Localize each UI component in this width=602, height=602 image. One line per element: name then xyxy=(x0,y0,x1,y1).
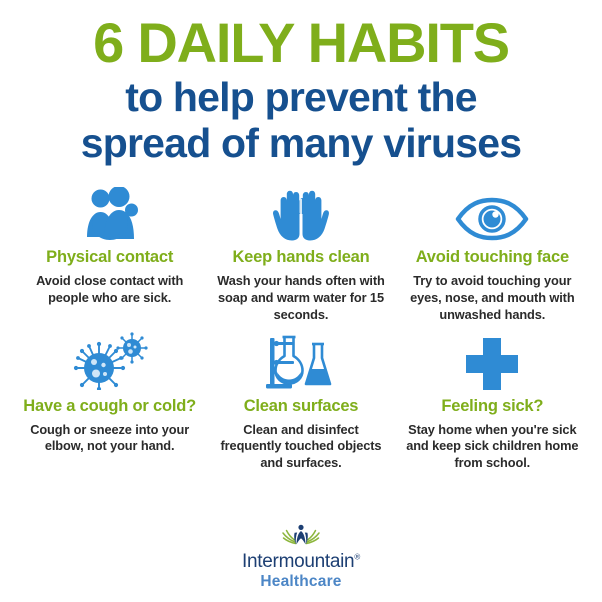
habit-card-clean-surfaces: Clean surfaces Clean and disinfect frequ… xyxy=(205,332,396,473)
infographic-poster: 6 DAILY HABITS to help prevent the sprea… xyxy=(0,0,602,602)
habit-heading: Avoid touching face xyxy=(405,248,580,267)
two-hands-icon xyxy=(213,183,388,241)
habit-heading: Clean surfaces xyxy=(213,397,388,416)
two-people-embracing-icon xyxy=(22,183,197,241)
habit-heading: Have a cough or cold? xyxy=(22,397,197,416)
habit-card-avoid-touching-face: Avoid touching face Try to avoid touchin… xyxy=(397,183,588,324)
intermountain-logo-mark-icon xyxy=(281,524,321,551)
habit-body: Stay home when you're sick and keep sick… xyxy=(405,422,580,473)
page-subtitle: to help prevent the spread of many virus… xyxy=(0,75,602,167)
habit-card-cough-or-cold: Have a cough or cold? Cough or sneeze in… xyxy=(14,332,205,473)
habit-body: Try to avoid touching your eyes, nose, a… xyxy=(405,273,580,324)
habit-card-physical-contact: Physical contact Avoid close contact wit… xyxy=(14,183,205,324)
logo-name: Intermountain xyxy=(242,551,354,572)
page-subtitle-line-1: to help prevent the xyxy=(125,74,477,120)
habit-heading: Feeling sick? xyxy=(405,397,580,416)
habit-card-feeling-sick: Feeling sick? Stay home when you're sick… xyxy=(397,332,588,473)
habit-body: Avoid close contact with people who are … xyxy=(22,273,197,307)
habit-heading: Keep hands clean xyxy=(213,248,388,267)
habit-body: Wash your hands often with soap and warm… xyxy=(213,273,388,324)
lab-flasks-icon xyxy=(213,332,388,390)
footer-logo-block: Intermountain® Healthcare xyxy=(0,524,602,590)
habit-grid: Physical contact Avoid close contact wit… xyxy=(0,167,602,472)
headline-block: 6 DAILY HABITS to help prevent the sprea… xyxy=(0,0,602,167)
logo-wordmark: Intermountain® xyxy=(242,552,360,572)
habit-card-keep-hands-clean: Keep hands clean Wash your hands often w… xyxy=(205,183,396,324)
logo-tagline: Healthcare xyxy=(260,573,341,590)
habit-heading: Physical contact xyxy=(22,248,197,267)
virus-germs-icon xyxy=(22,332,197,390)
habit-body: Cough or sneeze into your elbow, not you… xyxy=(22,422,197,456)
registered-mark-icon: ® xyxy=(354,553,360,562)
page-title: 6 DAILY HABITS xyxy=(0,14,602,71)
page-subtitle-line-2: spread of many viruses xyxy=(0,121,602,167)
habit-body: Clean and disinfect frequently touched o… xyxy=(213,422,388,473)
medical-cross-icon xyxy=(405,332,580,390)
eye-icon xyxy=(405,183,580,241)
